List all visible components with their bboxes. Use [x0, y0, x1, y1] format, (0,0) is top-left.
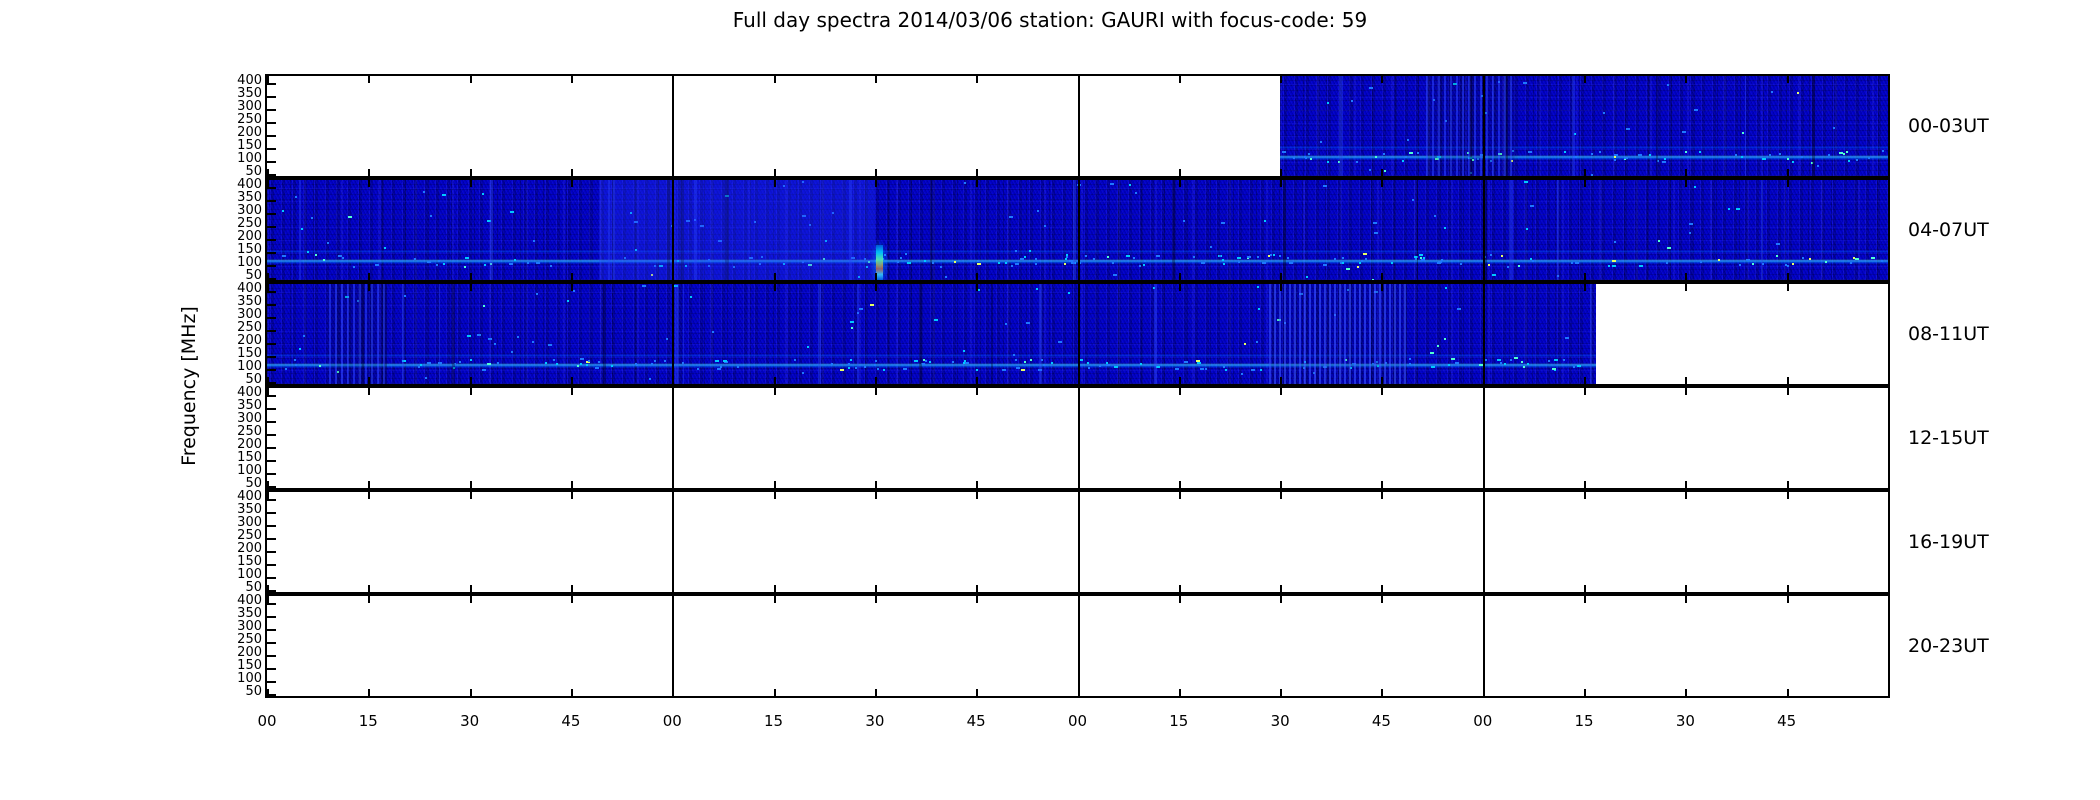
- bright-pixel: [1099, 365, 1101, 367]
- bright-pixel: [1694, 109, 1698, 111]
- bright-pixel: [1488, 264, 1490, 266]
- bright-pixel: [1797, 92, 1799, 94]
- x-tick-mark-top: [1685, 284, 1687, 291]
- bright-pixel: [1068, 292, 1070, 294]
- bright-pixel: [1881, 260, 1883, 262]
- y-tick-mark: [267, 148, 276, 150]
- x-tick-mark-top: [267, 388, 269, 395]
- bright-pixel: [1524, 181, 1528, 183]
- x-tick-label: 45: [1361, 712, 1401, 730]
- bright-pixel: [1310, 158, 1312, 160]
- bright-pixel: [1485, 359, 1487, 361]
- x-tick-mark-bottom: [1280, 273, 1282, 280]
- bright-pixel: [1222, 259, 1224, 261]
- bright-pixel: [1739, 264, 1741, 266]
- bright-pixel: [1599, 151, 1601, 153]
- y-tick-mark: [267, 109, 276, 111]
- x-tick-mark-top: [368, 180, 370, 187]
- x-tick-mark-top: [1179, 76, 1181, 83]
- x-tick-mark-top: [672, 492, 674, 499]
- bright-pixel: [1005, 323, 1007, 325]
- bright-pixel: [1247, 256, 1251, 258]
- bright-pixel: [1787, 265, 1789, 267]
- bright-pixel: [1257, 286, 1259, 288]
- y-tick-mark: [267, 356, 276, 358]
- bright-pixel: [1320, 141, 1322, 143]
- bright-pixel: [952, 361, 954, 363]
- x-tick-mark-bottom: [774, 585, 776, 592]
- bright-pixel: [964, 182, 966, 184]
- bright-pixel: [536, 293, 538, 295]
- x-tick-mark-top: [672, 284, 674, 291]
- bright-pixel: [483, 305, 485, 307]
- bright-pixel: [438, 260, 440, 262]
- y-tick-label: 250: [216, 113, 262, 126]
- y-tick-mark: [267, 213, 276, 215]
- bright-pixel: [567, 300, 569, 302]
- bright-pixel: [1528, 151, 1532, 153]
- y-tick-label: 100: [216, 256, 262, 269]
- bright-pixel: [903, 368, 907, 370]
- bright-pixel: [1351, 100, 1353, 102]
- bright-pixel: [1144, 260, 1146, 262]
- x-tick-label: 00: [247, 712, 287, 730]
- x-tick-mark-bottom: [1584, 689, 1586, 696]
- y-tick-mark: [267, 668, 276, 670]
- x-tick-mark-top: [470, 180, 472, 187]
- x-tick-mark-bottom: [1179, 377, 1181, 384]
- x-tick-mark-bottom: [774, 169, 776, 176]
- bright-pixel: [459, 361, 461, 363]
- x-tick-mark-bottom: [1787, 481, 1789, 488]
- page-title: Full day spectra 2014/03/06 station: GAU…: [0, 8, 2100, 32]
- bright-pixel: [864, 366, 866, 368]
- bright-pixel: [1639, 265, 1643, 267]
- bright-pixel: [299, 348, 301, 350]
- bright-pixel: [1614, 154, 1618, 156]
- y-tick-label: 200: [216, 646, 262, 659]
- bright-pixel: [1051, 362, 1053, 364]
- x-gridline: [1078, 76, 1080, 178]
- bright-pixel: [998, 262, 1000, 264]
- y-tick-label: 400: [216, 490, 262, 503]
- x-tick-mark-top: [368, 596, 370, 603]
- x-tick-mark-bottom: [1787, 689, 1789, 696]
- x-tick-mark-top: [571, 180, 573, 187]
- bright-pixel: [611, 365, 613, 367]
- x-tick-mark-top: [1584, 180, 1586, 187]
- vertical-interference-column: [1590, 284, 1592, 384]
- bright-pixel: [976, 369, 978, 371]
- x-tick-mark-top: [1685, 492, 1687, 499]
- bright-pixel: [1523, 366, 1525, 368]
- x-tick-mark-bottom: [1584, 585, 1586, 592]
- x-tick-mark-top: [1280, 76, 1282, 83]
- y-tick-mark: [267, 135, 276, 137]
- bright-pixel: [1009, 216, 1013, 218]
- y-tick-mark: [267, 343, 276, 345]
- bright-pixel: [1093, 258, 1095, 260]
- bright-pixel: [1518, 265, 1520, 267]
- spectrogram-panel-04-07ut[interactable]: [265, 178, 1890, 282]
- y-tick-label-group: 40035030025020015010050: [210, 490, 262, 594]
- x-tick-mark-top: [976, 284, 978, 291]
- spectrogram-panel-12-15ut[interactable]: [265, 386, 1890, 490]
- bright-pixel: [1279, 255, 1281, 257]
- bright-pixel: [1256, 341, 1258, 343]
- vertical-interference-column: [603, 284, 606, 384]
- bright-pixel: [532, 341, 534, 343]
- x-tick-mark-top: [267, 492, 269, 499]
- bright-pixel: [1087, 362, 1089, 364]
- y-tick-mark: [267, 629, 276, 631]
- y-tick-label: 100: [216, 360, 262, 373]
- bright-pixel: [1011, 265, 1013, 267]
- bright-pixel: [580, 363, 582, 365]
- x-tick-mark-top: [1280, 596, 1282, 603]
- x-tick-mark-top: [368, 492, 370, 499]
- x-tick-mark-bottom: [1280, 377, 1282, 384]
- x-tick-mark-top: [875, 596, 877, 603]
- bright-pixel: [285, 368, 287, 370]
- y-tick-mark: [267, 538, 276, 540]
- x-tick-mark-bottom: [368, 481, 370, 488]
- bright-pixel: [1287, 257, 1289, 259]
- bright-pixel: [323, 259, 325, 261]
- vertical-interference-column: [857, 284, 859, 384]
- x-tick-mark-bottom: [1685, 377, 1687, 384]
- bright-pixel: [588, 360, 590, 362]
- y-tick-label: 50: [216, 685, 262, 698]
- x-tick-mark-bottom: [1078, 273, 1080, 280]
- bright-pixel: [964, 360, 966, 362]
- bright-pixel: [1718, 259, 1720, 261]
- bright-pixel: [427, 261, 431, 263]
- x-tick-mark-top: [672, 596, 674, 603]
- bright-pixel: [929, 361, 931, 363]
- bright-pixel: [1833, 127, 1835, 129]
- bright-pixel: [649, 378, 651, 380]
- bright-pixel: [418, 366, 420, 368]
- bright-pixel: [1682, 131, 1686, 133]
- x-tick-mark-top: [1483, 284, 1485, 291]
- x-tick-mark-bottom: [1584, 273, 1586, 280]
- x-tick-mark-top: [875, 388, 877, 395]
- y-tick-mark: [267, 239, 276, 241]
- bright-pixel: [1825, 261, 1827, 263]
- y-tick-label: 350: [216, 399, 262, 412]
- bright-pixel: [1200, 368, 1204, 370]
- bright-pixel: [1662, 161, 1666, 163]
- x-tick-mark-bottom: [1483, 689, 1485, 696]
- vertical-interference-column: [1039, 284, 1042, 384]
- bright-pixel: [1058, 341, 1062, 343]
- x-tick-mark-bottom: [267, 689, 269, 696]
- bright-speckle-layer: [1280, 76, 1888, 176]
- bright-pixel: [1421, 259, 1425, 261]
- x-tick-mark-bottom: [1179, 585, 1181, 592]
- bright-pixel: [1359, 262, 1361, 264]
- x-tick-mark-top: [1179, 284, 1181, 291]
- bright-pixel: [1183, 220, 1185, 222]
- bright-pixel: [295, 364, 297, 366]
- bright-pixel: [1868, 157, 1870, 159]
- x-tick-mark-top: [672, 180, 674, 187]
- y-tick-label: 200: [216, 334, 262, 347]
- y-tick-label: 150: [216, 451, 262, 464]
- vertical-interference-column: [991, 284, 993, 384]
- x-tick-mark-bottom: [1685, 169, 1687, 176]
- y-tick-label: 300: [216, 412, 262, 425]
- y-tick-label: 200: [216, 126, 262, 139]
- bright-pixel: [1079, 359, 1083, 361]
- spectrogram-panel-20-23ut[interactable]: [265, 594, 1890, 698]
- x-tick-mark-top: [1280, 492, 1282, 499]
- y-tick-label: 150: [216, 347, 262, 360]
- bright-pixel: [1223, 263, 1225, 265]
- bright-pixel: [1405, 156, 1407, 158]
- y-tick-label-group: 40035030025020015010050: [210, 282, 262, 386]
- bright-pixel: [1689, 232, 1691, 234]
- bright-pixel: [1612, 265, 1616, 267]
- bright-pixel: [1591, 174, 1593, 176]
- bright-pixel: [1409, 358, 1411, 360]
- bright-pixel: [963, 350, 965, 352]
- bright-pixel: [319, 365, 321, 367]
- bright-pixel: [1369, 87, 1373, 89]
- y-tick-label: 400: [216, 594, 262, 607]
- vertical-interference-column: [1172, 180, 1175, 280]
- x-tick-mark-top: [875, 180, 877, 187]
- bright-pixel: [338, 255, 342, 257]
- y-tick-label: 300: [216, 100, 262, 113]
- bright-pixel: [1024, 256, 1026, 258]
- bright-pixel: [1346, 268, 1350, 270]
- bright-pixel: [875, 360, 877, 362]
- bright-pixel: [1126, 255, 1130, 257]
- bright-pixel: [723, 360, 727, 362]
- x-tick-mark-bottom: [1179, 689, 1181, 696]
- bright-pixel: [900, 257, 902, 259]
- bright-pixel: [467, 335, 471, 337]
- enhanced-emission-interval: [1426, 76, 1515, 176]
- bright-pixel: [1792, 263, 1794, 265]
- bright-pixel: [1308, 153, 1310, 155]
- bright-pixel: [1577, 365, 1581, 367]
- y-tick-label: 300: [216, 620, 262, 633]
- x-tick-mark-bottom: [368, 689, 370, 696]
- x-gridline: [1078, 284, 1080, 386]
- bright-pixel: [921, 363, 925, 365]
- bright-pixel: [1112, 262, 1114, 264]
- bright-pixel: [1728, 208, 1730, 210]
- bright-pixel: [307, 251, 309, 253]
- bright-pixel: [1434, 215, 1436, 217]
- bright-pixel: [874, 364, 876, 366]
- x-tick-mark-bottom: [976, 273, 978, 280]
- vertical-interference-column: [930, 180, 932, 280]
- bright-pixel: [509, 263, 513, 265]
- vertical-interference-column: [299, 180, 301, 280]
- y-tick-label: 50: [216, 165, 262, 178]
- bright-pixel: [1571, 262, 1573, 264]
- bright-pixel: [1591, 153, 1593, 155]
- bright-pixel: [1514, 357, 1518, 359]
- x-tick-mark-top: [1584, 76, 1586, 83]
- bright-pixel: [1021, 369, 1025, 371]
- vertical-interference-column: [1484, 180, 1487, 280]
- bright-pixel: [1323, 264, 1327, 266]
- y-tick-mark: [267, 408, 276, 410]
- x-tick-label: 15: [348, 712, 388, 730]
- x-tick-mark-top: [1787, 180, 1789, 187]
- row-label-16-19ut: 16-19UT: [1908, 531, 1989, 553]
- x-tick-mark-bottom: [1787, 169, 1789, 176]
- x-tick-mark-bottom: [267, 585, 269, 592]
- x-tick-mark-top: [672, 76, 674, 83]
- x-tick-mark-top: [470, 492, 472, 499]
- x-tick-label: 45: [1767, 712, 1807, 730]
- y-tick-label: 400: [216, 74, 262, 87]
- bright-pixel: [1667, 247, 1671, 249]
- bright-pixel: [1501, 255, 1503, 257]
- y-tick-mark: [267, 226, 276, 228]
- x-tick-mark-top: [470, 76, 472, 83]
- x-tick-mark-top: [1381, 76, 1383, 83]
- y-tick-label: 100: [216, 152, 262, 165]
- bright-pixel: [1527, 363, 1529, 365]
- x-tick-mark-bottom: [976, 481, 978, 488]
- x-tick-mark-bottom: [571, 377, 573, 384]
- bright-pixel: [1552, 368, 1556, 370]
- vertical-interference-column: [919, 284, 922, 384]
- bright-pixel: [666, 338, 668, 340]
- bright-pixel: [1448, 364, 1450, 366]
- bright-pixel: [282, 255, 286, 257]
- x-tick-mark-bottom: [470, 273, 472, 280]
- bright-pixel: [1201, 262, 1205, 264]
- bright-pixel: [850, 321, 854, 323]
- bright-pixel: [651, 363, 653, 365]
- bright-pixel: [1264, 220, 1266, 222]
- bright-pixel: [1510, 359, 1512, 361]
- y-tick-label: 150: [216, 659, 262, 672]
- y-tick-mark: [267, 460, 276, 462]
- x-tick-label: 00: [652, 712, 692, 730]
- x-tick-mark-bottom: [571, 481, 573, 488]
- x-tick-mark-top: [267, 284, 269, 291]
- x-tick-mark-top: [1179, 492, 1181, 499]
- bright-pixel: [1437, 262, 1441, 264]
- bright-pixel: [1374, 232, 1378, 234]
- y-tick-label: 250: [216, 529, 262, 542]
- y-tick-label: 200: [216, 542, 262, 555]
- bright-pixel: [1036, 288, 1038, 290]
- y-tick-label: 400: [216, 178, 262, 191]
- bright-pixel: [1282, 151, 1286, 153]
- y-tick-label: 350: [216, 87, 262, 100]
- x-tick-mark-bottom: [1584, 377, 1586, 384]
- x-tick-label: 15: [1564, 712, 1604, 730]
- bright-pixel: [712, 331, 714, 333]
- bright-pixel: [1521, 361, 1523, 363]
- x-tick-mark-bottom: [267, 169, 269, 176]
- bright-pixel: [924, 260, 926, 262]
- x-tick-mark-bottom: [1483, 377, 1485, 384]
- bright-pixel: [420, 364, 422, 366]
- y-tick-label: 50: [216, 373, 262, 386]
- x-tick-mark-top: [571, 596, 573, 603]
- x-tick-mark-top: [1584, 492, 1586, 499]
- x-tick-mark-bottom: [1381, 585, 1383, 592]
- bright-pixel: [1554, 359, 1558, 361]
- bright-pixel: [1369, 169, 1371, 171]
- bright-pixel: [1658, 240, 1660, 242]
- x-tick-mark-bottom: [1179, 169, 1181, 176]
- vertical-interference-column: [490, 180, 493, 280]
- bright-pixel: [482, 369, 486, 371]
- bright-pixel: [1809, 258, 1811, 260]
- x-tick-mark-bottom: [1179, 481, 1181, 488]
- x-tick-mark-bottom: [976, 169, 978, 176]
- bright-pixel: [1107, 256, 1109, 258]
- x-tick-mark-bottom: [1381, 169, 1383, 176]
- bright-pixel: [282, 210, 284, 212]
- y-tick-label: 250: [216, 633, 262, 646]
- bright-pixel: [1306, 276, 1308, 278]
- spectrogram-panel-00-03ut[interactable]: [265, 74, 1890, 178]
- x-tick-mark-bottom: [1179, 273, 1181, 280]
- vertical-interference-column: [1154, 284, 1157, 384]
- bright-pixel: [1626, 128, 1630, 130]
- bright-pixel: [914, 360, 918, 362]
- bright-pixel: [1184, 361, 1188, 363]
- y-tick-label: 150: [216, 243, 262, 256]
- bright-pixel: [851, 327, 853, 329]
- x-tick-mark-bottom: [672, 585, 674, 592]
- x-gridline: [1078, 180, 1080, 282]
- bright-pixel: [1066, 256, 1068, 258]
- bright-pixel: [1741, 156, 1743, 158]
- bright-pixel: [977, 260, 979, 262]
- x-tick-mark-top: [672, 388, 674, 395]
- bright-pixel: [1015, 263, 1019, 265]
- spectrogram-panel-16-19ut[interactable]: [265, 490, 1890, 594]
- bright-pixel: [1251, 369, 1255, 371]
- bright-pixel: [1342, 257, 1344, 259]
- spectrogram-panel-08-11ut[interactable]: [265, 282, 1890, 386]
- y-tick-mark: [267, 96, 276, 98]
- x-gridline: [672, 284, 674, 386]
- x-tick-mark-bottom: [672, 377, 674, 384]
- x-tick-mark-bottom: [470, 585, 472, 592]
- x-tick-mark-bottom: [875, 689, 877, 696]
- x-tick-mark-bottom: [1787, 377, 1789, 384]
- bright-pixel: [598, 361, 600, 363]
- bright-pixel: [1016, 367, 1020, 369]
- bright-pixel: [1002, 369, 1006, 371]
- y-tick-label: 250: [216, 321, 262, 334]
- y-tick-mark: [267, 551, 276, 553]
- bright-pixel: [1700, 261, 1702, 263]
- bright-pixel: [1391, 262, 1393, 264]
- x-tick-mark-top: [1078, 284, 1080, 291]
- x-tick-mark-bottom: [1381, 481, 1383, 488]
- bright-pixel: [1013, 354, 1015, 356]
- x-tick-mark-bottom: [1078, 169, 1080, 176]
- x-tick-mark-top: [1483, 492, 1485, 499]
- bright-pixel: [1548, 360, 1550, 362]
